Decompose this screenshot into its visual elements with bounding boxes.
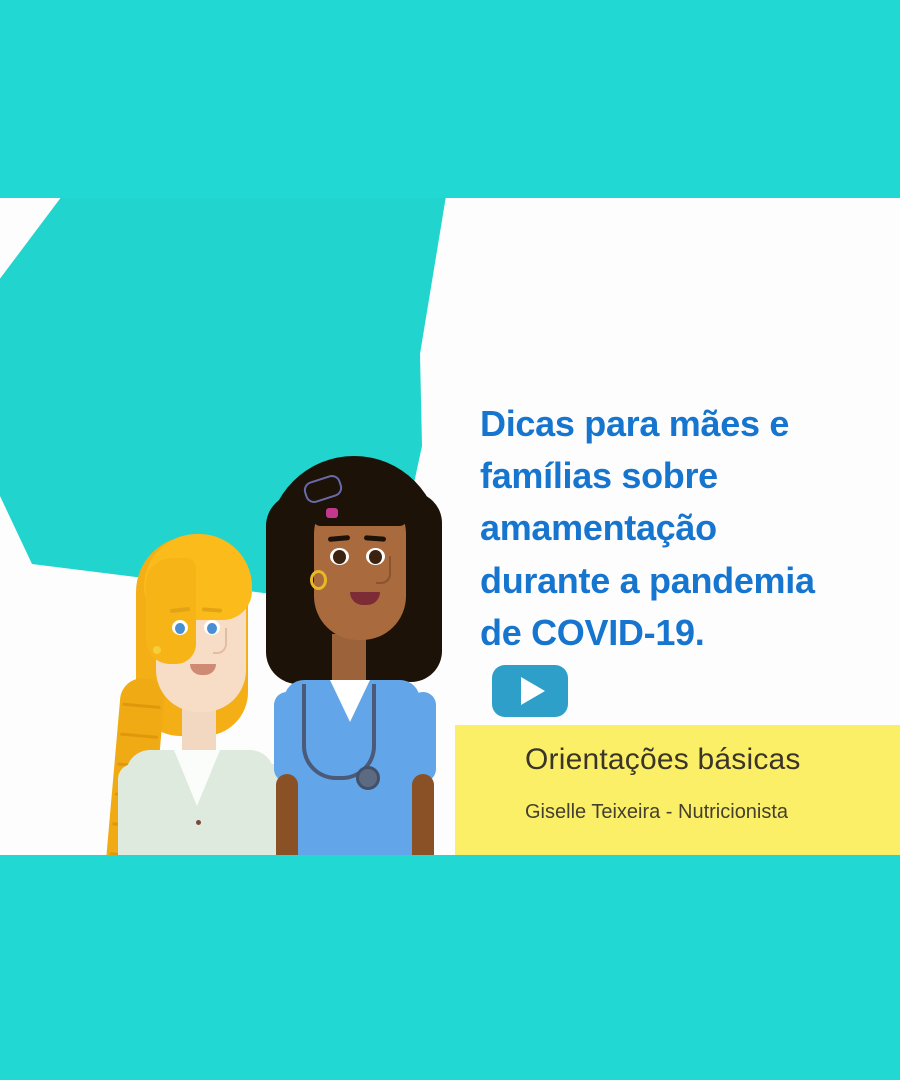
coat-button (196, 820, 201, 825)
character-nurse-woman (268, 456, 443, 855)
title-line-1: Dicas para mães e (480, 398, 880, 450)
hair-bead (326, 508, 338, 518)
slide-stage: Dicas para mães e famílias sobre amament… (0, 0, 900, 1080)
nose (213, 628, 227, 654)
caption-box: Orientações básicas Giselle Teixeira - N… (455, 725, 900, 855)
iris-left (333, 550, 346, 564)
video-frame[interactable]: Dicas para mães e famílias sobre amament… (0, 198, 900, 855)
title-line-5: de COVID-19. (480, 607, 880, 659)
iris-left (175, 623, 185, 634)
forearm-left (276, 774, 298, 855)
earring (153, 646, 161, 654)
caption-heading: Orientações básicas (525, 743, 885, 777)
nose (376, 556, 391, 584)
forearm-right (412, 774, 434, 855)
title-line-3: amamentação (480, 502, 880, 554)
earring (310, 570, 327, 590)
play-button[interactable] (492, 665, 568, 717)
play-icon (521, 677, 545, 705)
stethoscope-bell (356, 766, 380, 790)
title-line-4: durante a pandemia (480, 555, 880, 607)
caption-subheading: Giselle Teixeira - Nutricionista (525, 801, 895, 824)
neck (332, 634, 366, 686)
slide-title: Dicas para mães e famílias sobre amament… (480, 398, 880, 659)
title-line-2: famílias sobre (480, 450, 880, 502)
